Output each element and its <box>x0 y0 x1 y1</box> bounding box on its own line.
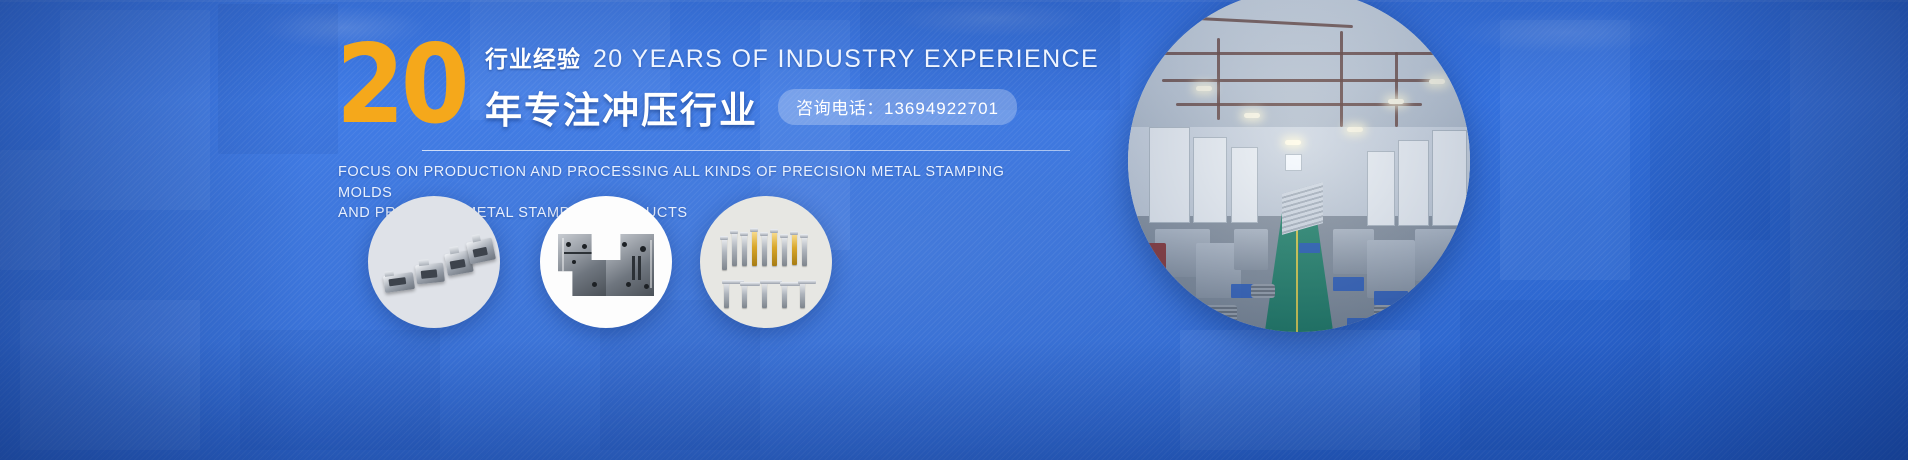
product-circle-stamping-die-set[interactable] <box>540 196 672 328</box>
phone-number: 13694922701 <box>884 99 999 118</box>
promo-banner: 20 行业经验 20 YEARS OF INDUSTRY EXPERIENCE … <box>0 0 1908 460</box>
subtitle-english: 20 YEARS OF INDUSTRY EXPERIENCE <box>593 45 1099 74</box>
product-circle-usb-connector-shells[interactable] <box>368 196 500 328</box>
headline-block: 20 行业经验 20 YEARS OF INDUSTRY EXPERIENCE … <box>336 34 1096 224</box>
main-headline-chinese: 年专注冲压行业 <box>485 80 758 134</box>
factory-workshop-photo[interactable] <box>1128 0 1470 332</box>
subtitle-chinese: 行业经验 <box>485 40 581 74</box>
divider-line <box>422 150 1070 151</box>
phone-pill[interactable]: 咨询电话：13694922701 <box>778 89 1017 125</box>
phone-label: 咨询电话： <box>796 99 884 118</box>
product-circle-metal-terminal-pins[interactable] <box>700 196 832 328</box>
years-number: 20 <box>336 38 466 131</box>
